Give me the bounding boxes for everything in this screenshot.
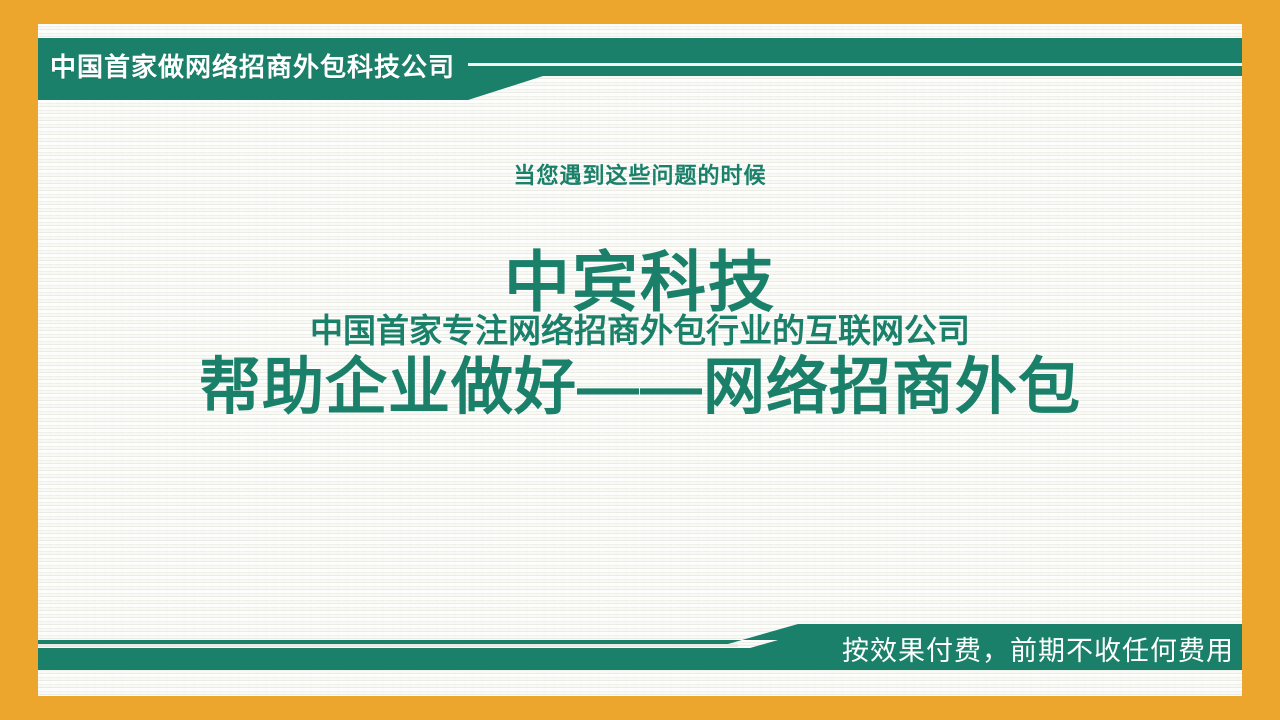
header-banner-text: 中国首家做网络招商外包科技公司 xyxy=(44,45,514,85)
main-headline: 帮助企业做好——网络招商外包 xyxy=(38,357,1242,419)
brand-title: 中宾科技 xyxy=(38,249,1242,315)
brand-subtitle: 中国首家专注网络招商外包行业的互联网公司 xyxy=(38,314,1242,347)
eyebrow-text: 当您遇到这些问题的时候 xyxy=(38,165,1242,187)
presentation-slide: 中国首家做网络招商外包科技公司 当您遇到这些问题的时候 中宾科技 中国首家专注网… xyxy=(0,0,1280,720)
footer-banner-text: 按效果付费，前期不收任何费用 xyxy=(842,629,1234,667)
slide-content-panel: 中国首家做网络招商外包科技公司 当您遇到这些问题的时候 中宾科技 中国首家专注网… xyxy=(38,24,1242,696)
header-ribbon-divider xyxy=(468,63,1242,66)
footer-ribbon-divider xyxy=(38,644,738,647)
